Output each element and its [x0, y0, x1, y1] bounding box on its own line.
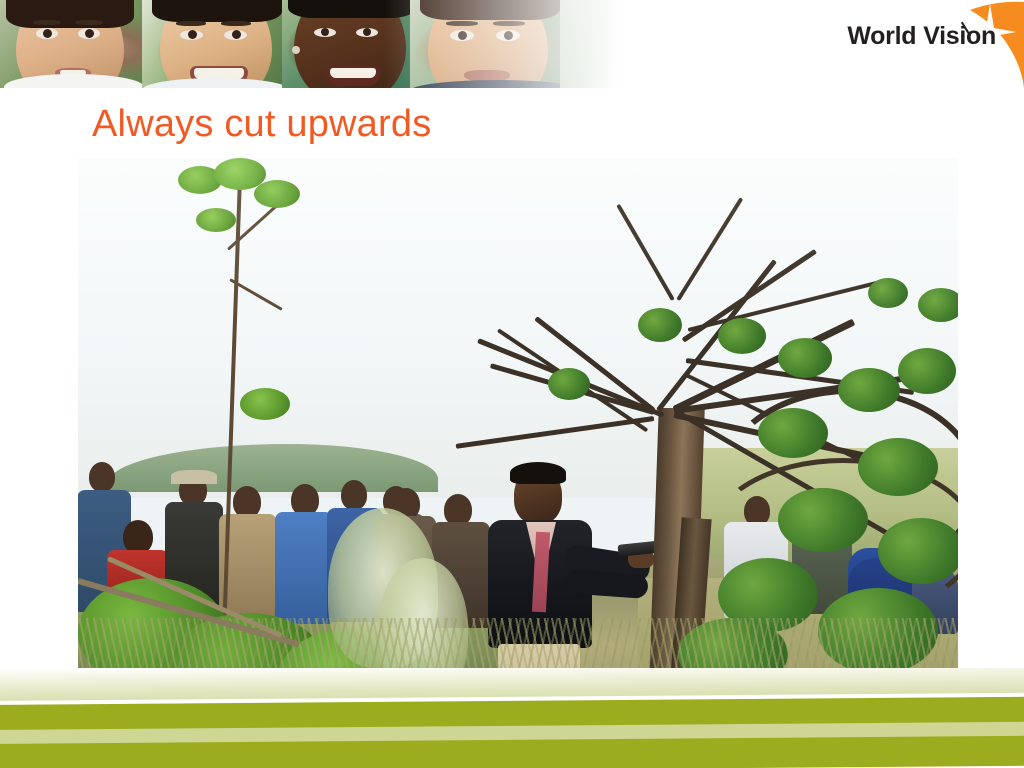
face-shape	[294, 0, 406, 88]
collar-shape	[4, 74, 144, 88]
mouth-shape	[55, 68, 91, 80]
pupil-right	[363, 28, 371, 36]
eyebrow-left	[176, 21, 206, 26]
eyebrow-left	[33, 20, 61, 25]
pruning-demonstration-photo	[78, 158, 958, 683]
banner-face-girl-1	[0, 0, 150, 88]
footer-decorative-bands	[0, 668, 1024, 768]
banner-face-boy-1	[142, 0, 290, 88]
eyebrow-right	[75, 20, 103, 25]
logo-wordmark: WorldVision	[847, 22, 996, 51]
earring-icon	[292, 46, 300, 54]
teeth-shape	[194, 68, 244, 79]
face-shape	[16, 0, 124, 88]
logo-word-vision-pre: Visi	[923, 22, 966, 50]
photo-haze-overlay	[78, 158, 958, 683]
eye-white-right	[496, 30, 520, 41]
face-background	[410, 0, 585, 88]
logo-word-world: World	[847, 22, 916, 50]
eye-white-right	[78, 28, 100, 39]
eyebrow-right	[221, 21, 251, 26]
eye-white-left	[450, 30, 474, 41]
pupil-right	[85, 29, 94, 38]
mouth-shape	[464, 70, 510, 82]
face-shape	[160, 0, 272, 88]
face-background	[560, 0, 640, 88]
face-background	[0, 0, 150, 88]
eye-white-left	[36, 28, 58, 39]
face-background	[142, 0, 290, 88]
header-banner: WorldVision	[0, 0, 1024, 88]
pupil-left	[188, 30, 197, 39]
teeth-shape	[60, 70, 86, 75]
presentation-slide: WorldVision Always cut upwards	[0, 0, 1024, 768]
pupil-right	[232, 30, 241, 39]
hair-shape	[152, 0, 282, 22]
children-faces-banner	[0, 0, 640, 88]
logo-word-vision-post: n	[981, 22, 996, 50]
eye-white-left	[180, 30, 203, 40]
hair-shape	[6, 0, 134, 28]
eye-white-right	[356, 28, 378, 37]
pupil-left	[321, 28, 329, 36]
mouth-shape	[190, 66, 248, 86]
eyebrow-left	[446, 21, 478, 26]
mouth-shape	[326, 66, 380, 86]
hair-shape	[288, 0, 416, 18]
banner-fade-tail	[560, 0, 640, 88]
pupil-left	[43, 29, 52, 38]
banner-face-boy-2	[410, 0, 585, 88]
collar-shape	[142, 78, 290, 88]
hair-shape	[420, 0, 560, 20]
pupil-right	[504, 31, 513, 40]
eye-white-right	[224, 30, 247, 40]
slide-title: Always cut upwards	[92, 104, 431, 146]
eye-white-left	[314, 28, 336, 37]
collar-shape	[410, 80, 585, 88]
logo-vision-o-glyph: o	[966, 22, 981, 51]
face-shape	[428, 0, 548, 88]
teeth-shape	[330, 68, 376, 78]
face-background	[282, 0, 422, 88]
world-vision-logo[interactable]: WorldVision	[784, 0, 1024, 88]
pupil-left	[458, 31, 467, 40]
eyebrow-right	[493, 21, 525, 26]
banner-face-girl-2	[282, 0, 422, 88]
